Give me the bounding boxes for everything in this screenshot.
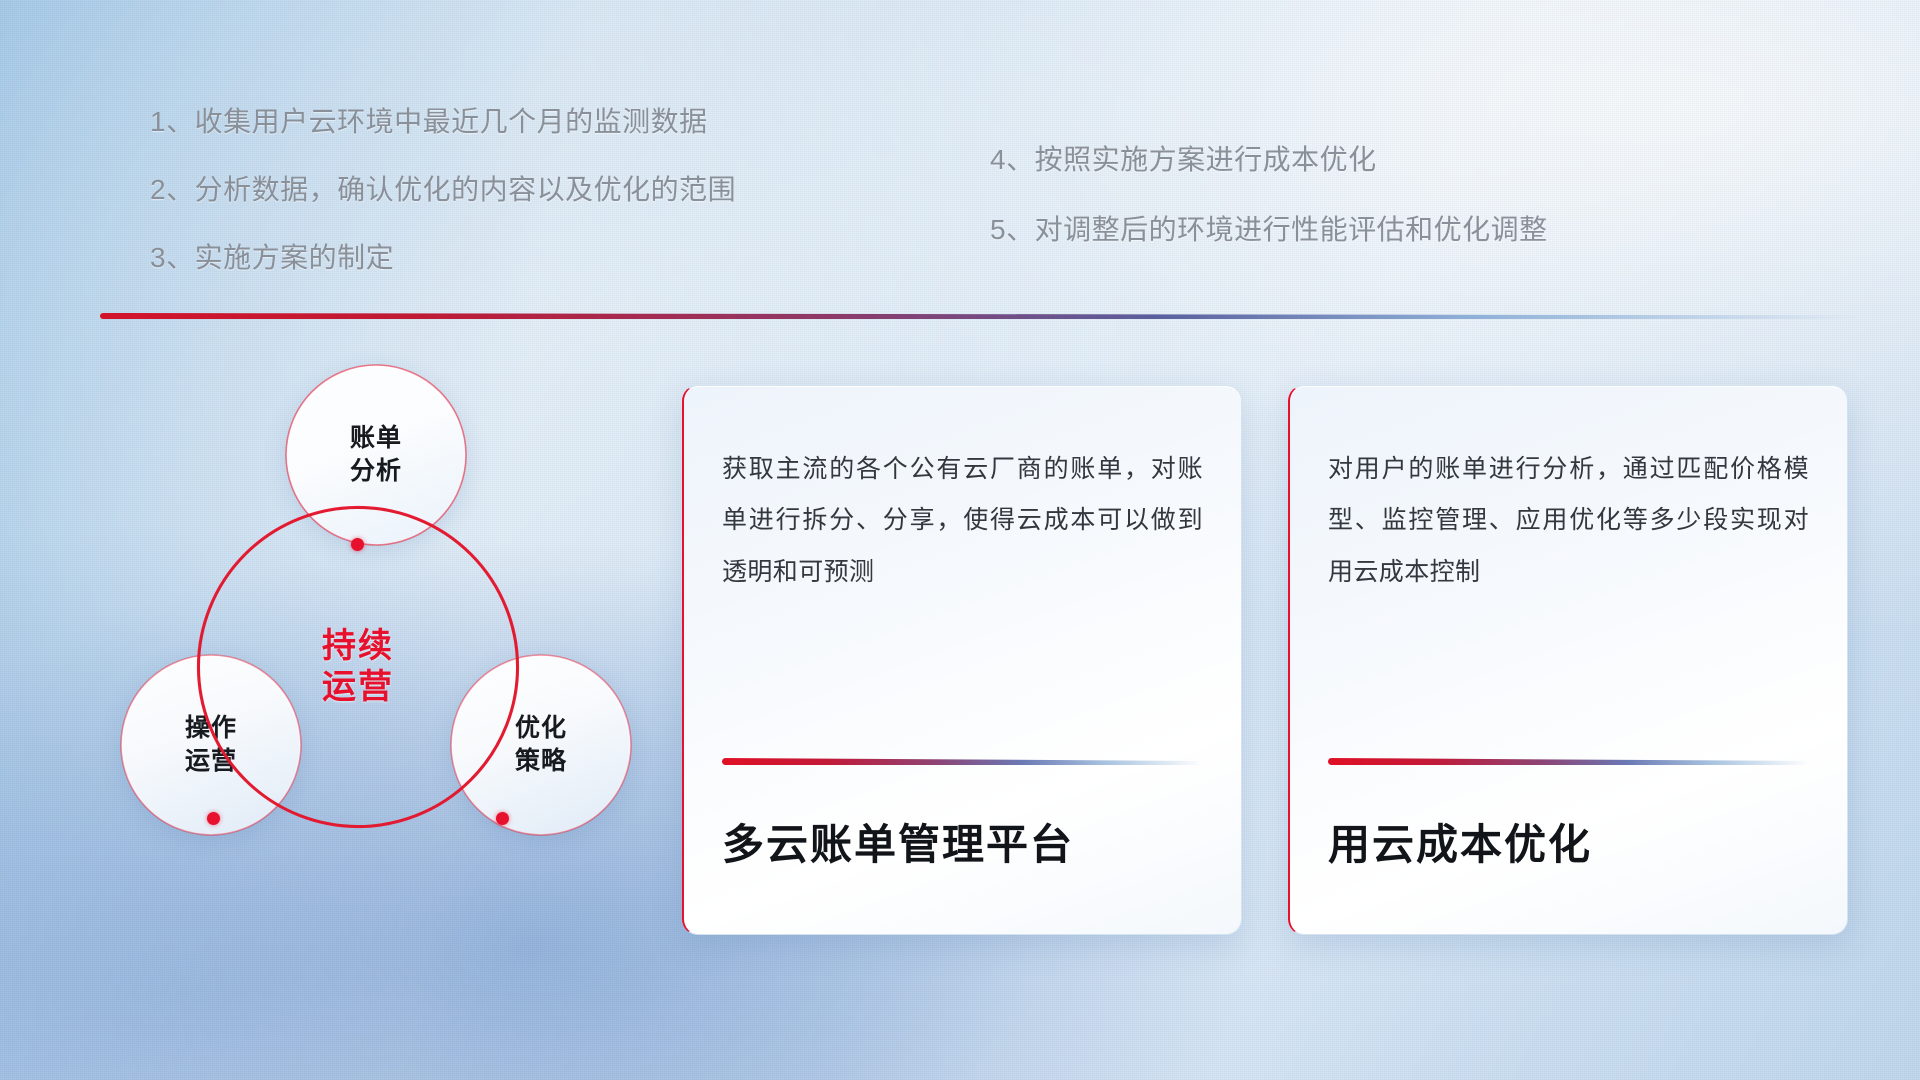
venn-junction-dot-bottom-right xyxy=(496,812,509,825)
info-card-body: 获取主流的各个公有云厂商的账单，对账单进行拆分、分享，使得云成本可以做到透明和可… xyxy=(722,444,1203,598)
info-card-multicloud-billing[interactable]: 获取主流的各个公有云厂商的账单，对账单进行拆分、分享，使得云成本可以做到透明和可… xyxy=(682,385,1242,935)
venn-center-label: 持续 运营 xyxy=(322,626,394,709)
venn-junction-dot-bottom-left xyxy=(207,812,220,825)
venn-center-ring: 持续 运营 xyxy=(198,507,518,827)
info-card-title: 多云账单管理平台 xyxy=(722,811,1203,872)
info-card-body: 对用户的账单进行分析，通过匹配价格模型、监控管理、应用优化等多少段实现对用云成本… xyxy=(1328,444,1809,598)
venn-node-label: 账单 分析 xyxy=(350,422,402,489)
info-card-divider xyxy=(722,758,1203,765)
info-card-cloud-cost-optimization[interactable]: 对用户的账单进行分析，通过匹配价格模型、监控管理、应用优化等多少段实现对用云成本… xyxy=(1288,385,1848,935)
step-item-4: 4、按照实施方案进行成本优化 xyxy=(990,146,1730,174)
info-card-divider xyxy=(1328,758,1809,765)
venn-node-label: 优化 策略 xyxy=(515,712,567,779)
step-item-3: 3、实施方案的制定 xyxy=(150,244,910,272)
venn-diagram: 账单 分析 操作 运营 优化 策略 持续 运营 xyxy=(96,355,656,935)
info-card-title: 用云成本优化 xyxy=(1328,811,1809,872)
step-item-2: 2、分析数据，确认优化的内容以及优化的范围 xyxy=(150,176,910,204)
venn-junction-dot-top xyxy=(351,538,364,551)
steps-right-column: 4、按照实施方案进行成本优化 5、对调整后的环境进行性能评估和优化调整 xyxy=(990,146,1730,286)
steps-left-column: 1、收集用户云环境中最近几个月的监测数据 2、分析数据，确认优化的内容以及优化的… xyxy=(150,108,910,312)
step-item-1: 1、收集用户云环境中最近几个月的监测数据 xyxy=(150,108,910,136)
step-item-5: 5、对调整后的环境进行性能评估和优化调整 xyxy=(990,216,1730,244)
